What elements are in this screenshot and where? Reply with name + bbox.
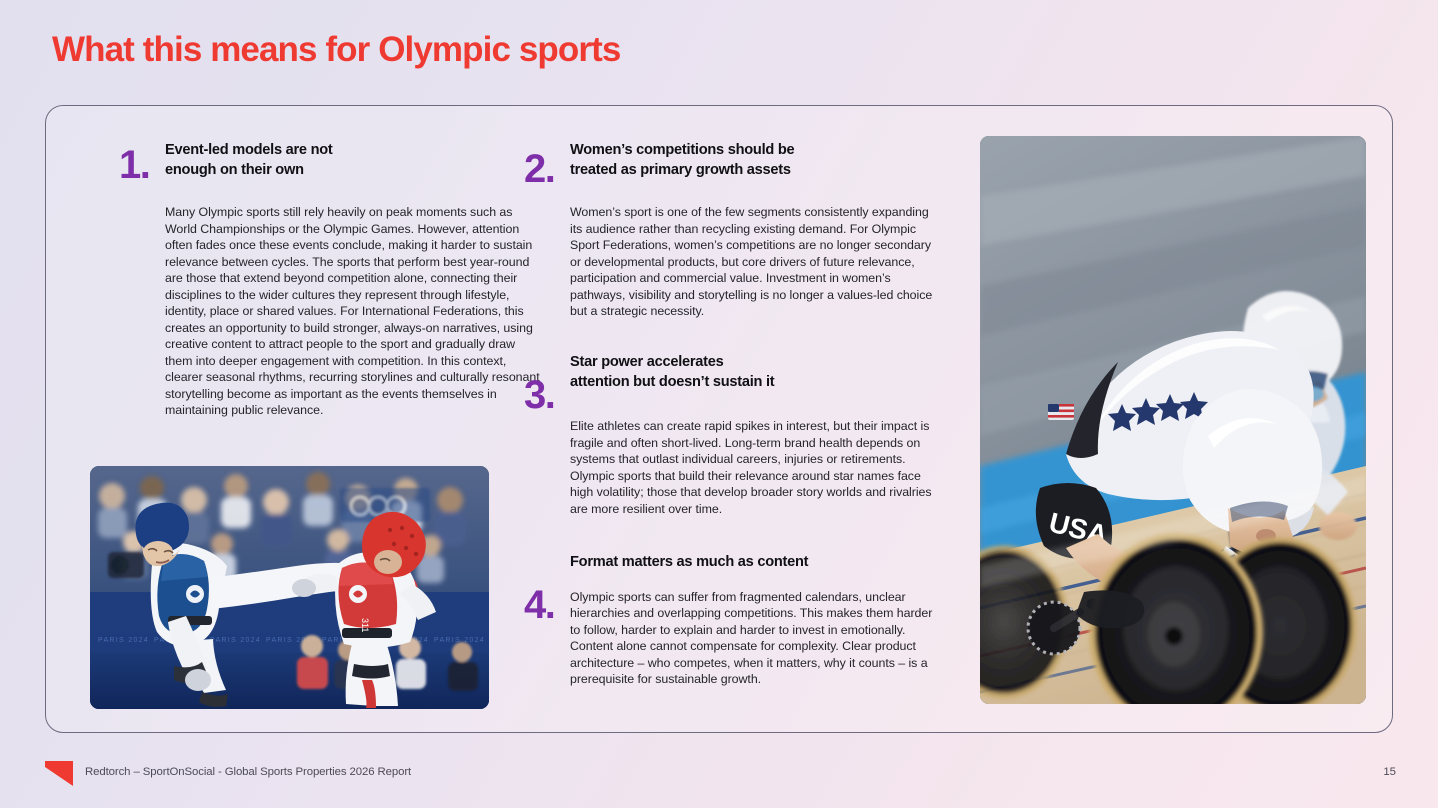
point-1-body: Many Olympic sports still rely heavily o… [165, 204, 544, 419]
point-1-heading: Event-led models are not enough on their… [165, 141, 544, 180]
redtorch-logo [44, 760, 74, 787]
point-3-body: Elite athletes can create rapid spikes i… [570, 418, 944, 517]
point-4-body: Olympic sports can suffer from fragmente… [570, 589, 944, 688]
cycling-photo: USA USA [980, 136, 1366, 704]
point-4: 4. Format matters as much as content Oly… [524, 553, 944, 688]
column-two: 2. Women’s competitions should be treate… [524, 141, 944, 688]
point-2: 2. Women’s competitions should be treate… [524, 141, 944, 320]
content-card: 1. Event-led models are not enough on th… [45, 105, 1393, 733]
point-4-number: 4. [524, 585, 570, 625]
point-1: 1. Event-led models are not enough on th… [119, 141, 544, 419]
page-title: What this means for Olympic sports [52, 31, 620, 70]
page-number: 15 [1383, 766, 1396, 778]
taekwondo-photo: PARIS 2024PARIS 2024 PARIS 2024PARIS 202… [90, 466, 489, 709]
point-3-number: 3. [524, 375, 570, 415]
footer-text: Redtorch – SportOnSocial - Global Sports… [85, 766, 411, 778]
point-4-heading: Format matters as much as content [570, 553, 944, 573]
svg-text:PARIS 2024: PARIS 2024 [98, 637, 149, 644]
point-1-number: 1. [119, 145, 165, 185]
point-3-heading: Star power accelerates attention but doe… [570, 353, 944, 392]
point-2-number: 2. [524, 149, 570, 189]
point-2-body: Women’s sport is one of the few segments… [570, 204, 944, 320]
point-2-heading: Women’s competitions should be treated a… [570, 141, 944, 180]
point-3: 3. Star power accelerates attention but … [524, 353, 944, 517]
svg-text:311: 311 [360, 618, 370, 632]
column-one: 1. Event-led models are not enough on th… [119, 141, 544, 419]
svg-text:PARIS 2024: PARIS 2024 [210, 637, 261, 644]
